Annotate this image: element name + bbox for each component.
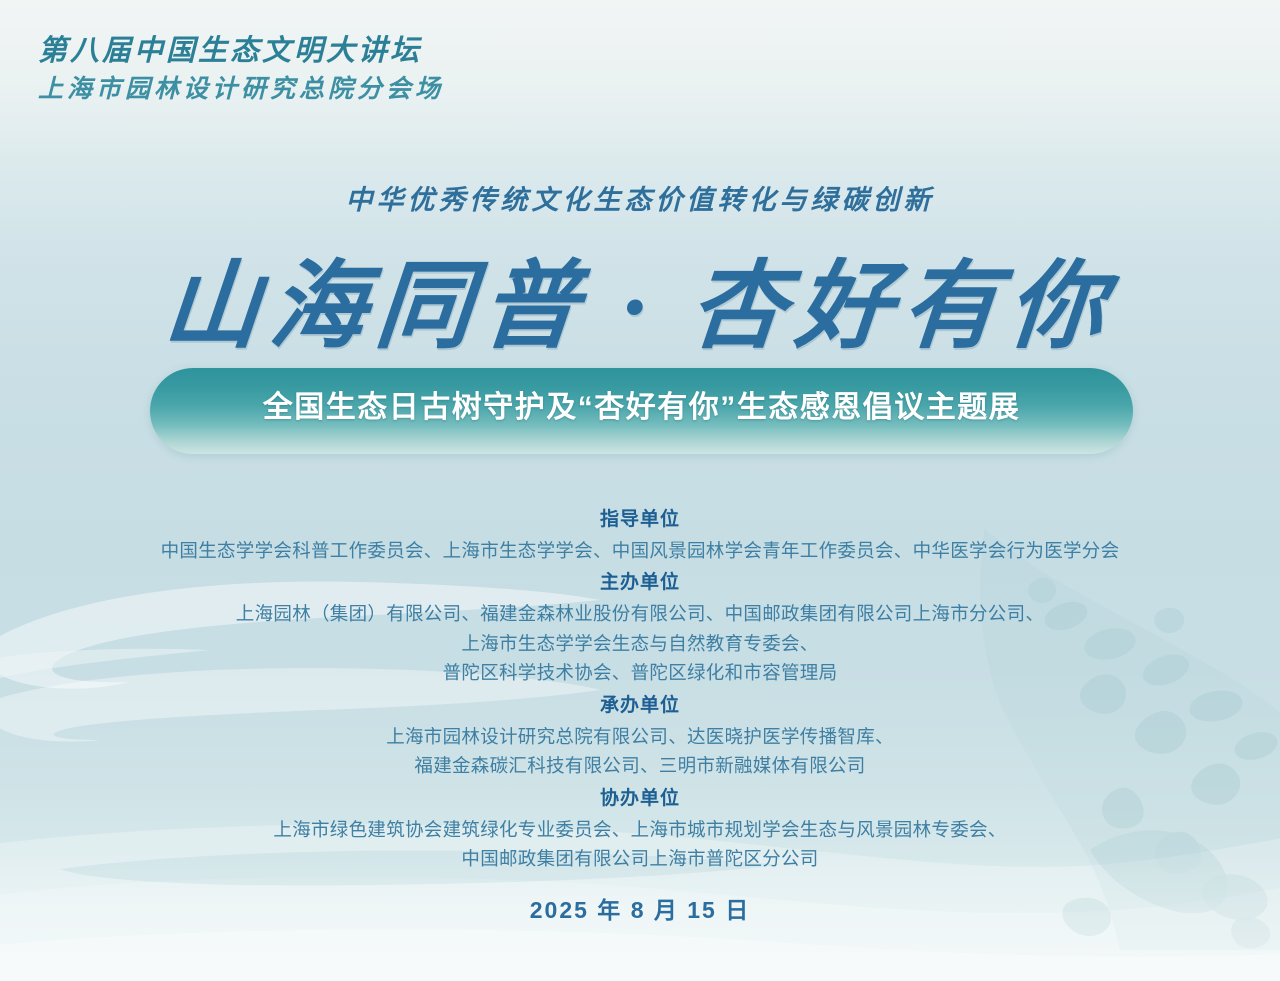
credit-line: 中国邮政集团有限公司上海市普陀区分公司 xyxy=(0,844,1280,874)
event-header: 第八届中国生态文明大讲坛 上海市园林设计研究总院分会场 xyxy=(38,34,444,106)
credit-group-cohosts: 协办单位 上海市绿色建筑协会建筑绿化专业委员会、上海市城市规划学会生态与风景园林… xyxy=(0,784,1280,874)
poster-subtitle: 中华优秀传统文化生态价值转化与绿碳创新 xyxy=(0,178,1280,217)
credit-line: 福建金森碳汇科技有限公司、三明市新融媒体有限公司 xyxy=(0,751,1280,781)
poster-main-title: 山海同普 · 杏好有你 xyxy=(0,228,1280,367)
credit-group-hosts: 承办单位 上海市园林设计研究总院有限公司、达医晓护医学传播智库、 福建金森碳汇科… xyxy=(0,691,1280,781)
credit-line: 上海市绿色建筑协会建筑绿化专业委员会、上海市城市规划学会生态与风景园林专委会、 xyxy=(0,815,1280,845)
credit-line: 中国生态学学会科普工作委员会、上海市生态学学会、中国风景园林学会青年工作委员会、… xyxy=(0,536,1280,566)
credit-line: 上海园林（集团）有限公司、福建金森林业股份有限公司、中国邮政集团有限公司上海市分… xyxy=(0,599,1280,629)
credit-heading: 协办单位 xyxy=(0,784,1280,815)
credit-group-guidance: 指导单位 中国生态学学会科普工作委员会、上海市生态学学会、中国风景园林学会青年工… xyxy=(0,505,1280,565)
forum-name: 第八届中国生态文明大讲坛 xyxy=(38,34,444,69)
credit-line: 普陀区科学技术协会、普陀区绿化和市容管理局 xyxy=(0,658,1280,688)
credit-heading: 承办单位 xyxy=(0,691,1280,722)
credit-heading: 指导单位 xyxy=(0,505,1280,536)
exhibition-banner-label: 全国生态日古树守护及“杏好有你”生态感恩倡议主题展 xyxy=(263,382,1021,426)
venue-name: 上海市园林设计研究总院分会场 xyxy=(38,75,444,106)
credit-group-organizers: 主办单位 上海园林（集团）有限公司、福建金森林业股份有限公司、中国邮政集团有限公… xyxy=(0,568,1280,688)
poster-canvas: 第八届中国生态文明大讲坛 上海市园林设计研究总院分会场 中华优秀传统文化生态价值… xyxy=(0,0,1280,981)
exhibition-banner: 全国生态日古树守护及“杏好有你”生态感恩倡议主题展 xyxy=(150,368,1133,454)
credit-line: 上海市园林设计研究总院有限公司、达医晓护医学传播智库、 xyxy=(0,722,1280,752)
credit-line: 上海市生态学学会生态与自然教育专委会、 xyxy=(0,629,1280,659)
credit-heading: 主办单位 xyxy=(0,568,1280,599)
credits-section: 指导单位 中国生态学学会科普工作委员会、上海市生态学学会、中国风景园林学会青年工… xyxy=(0,505,1280,925)
event-date: 2025 年 8 月 15 日 xyxy=(0,891,1280,925)
